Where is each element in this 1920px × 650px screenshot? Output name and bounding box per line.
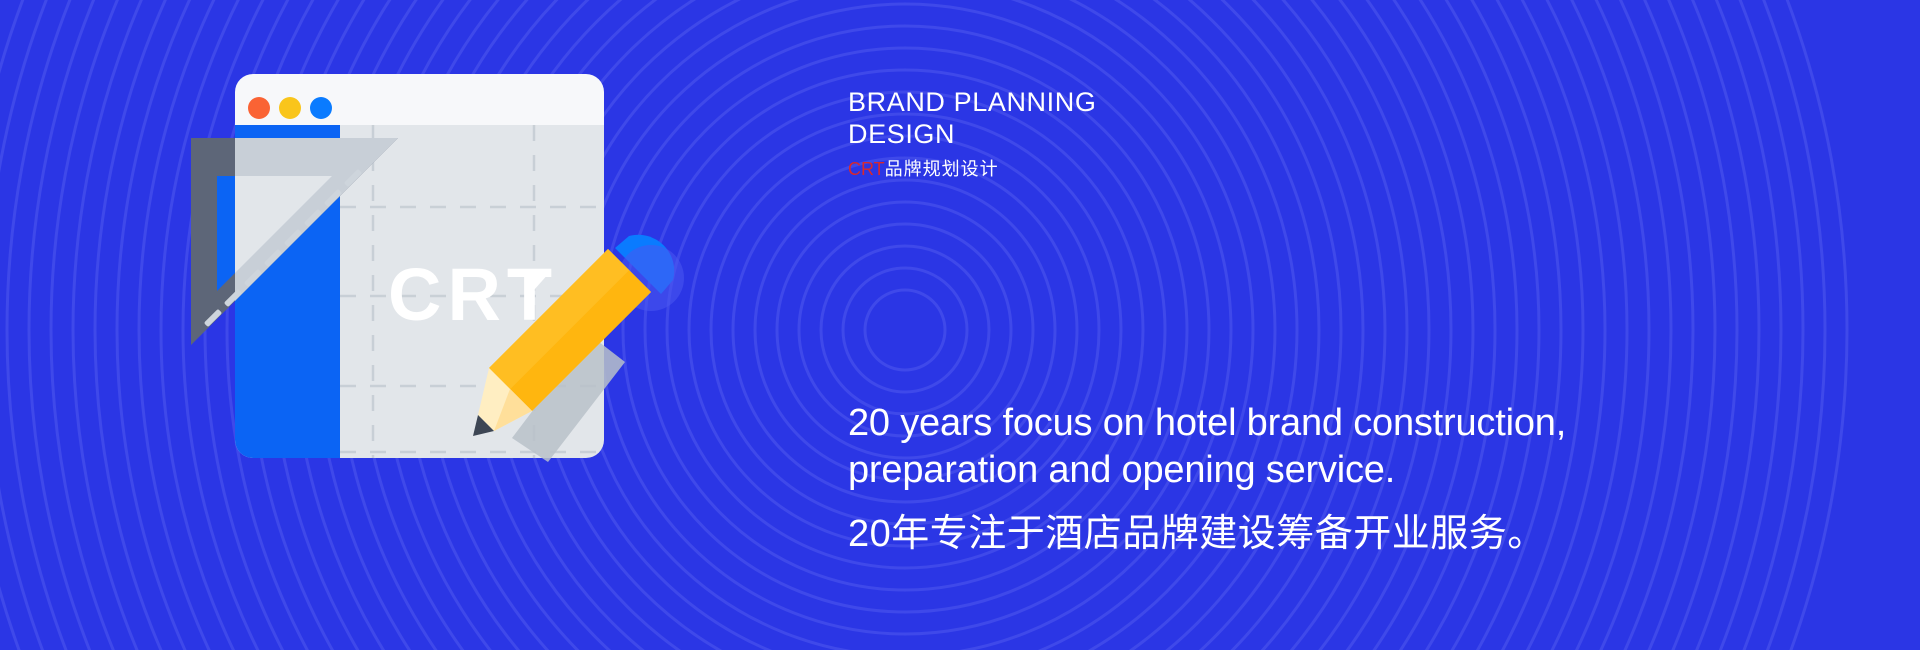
headline-english-line-2: preparation and opening service. <box>848 447 1668 494</box>
eyebrow-chinese-text: 品牌规划设计 <box>885 159 999 179</box>
eyebrow-line-1: BRAND PLANNING <box>848 86 1308 118</box>
banner-copy: BRAND PLANNING DESIGN CRT品牌规划设计 20 years… <box>848 0 1888 650</box>
headline-chinese: 20年专注于酒店品牌建设筹备开业服务。 <box>848 510 1668 558</box>
headline-english-line-1: 20 years focus on hotel brand constructi… <box>848 400 1668 447</box>
maximize-dot <box>310 97 332 119</box>
headline-block: 20 years focus on hotel brand constructi… <box>848 400 1668 558</box>
minimize-dot <box>279 97 301 119</box>
eyebrow-block: BRAND PLANNING DESIGN CRT品牌规划设计 <box>848 86 1308 180</box>
close-dot <box>248 97 270 119</box>
svg-text:CRT: CRT <box>388 253 558 336</box>
brand-planning-banner: CRT <box>0 0 1920 650</box>
eyebrow-line-2: DESIGN <box>848 118 1308 150</box>
brand-design-illustration: CRT <box>0 0 780 650</box>
document-watermark: CRT <box>388 253 558 336</box>
eyebrow-brand-mark: CRT <box>848 159 885 179</box>
eyebrow-chinese: CRT品牌规划设计 <box>848 158 1308 180</box>
